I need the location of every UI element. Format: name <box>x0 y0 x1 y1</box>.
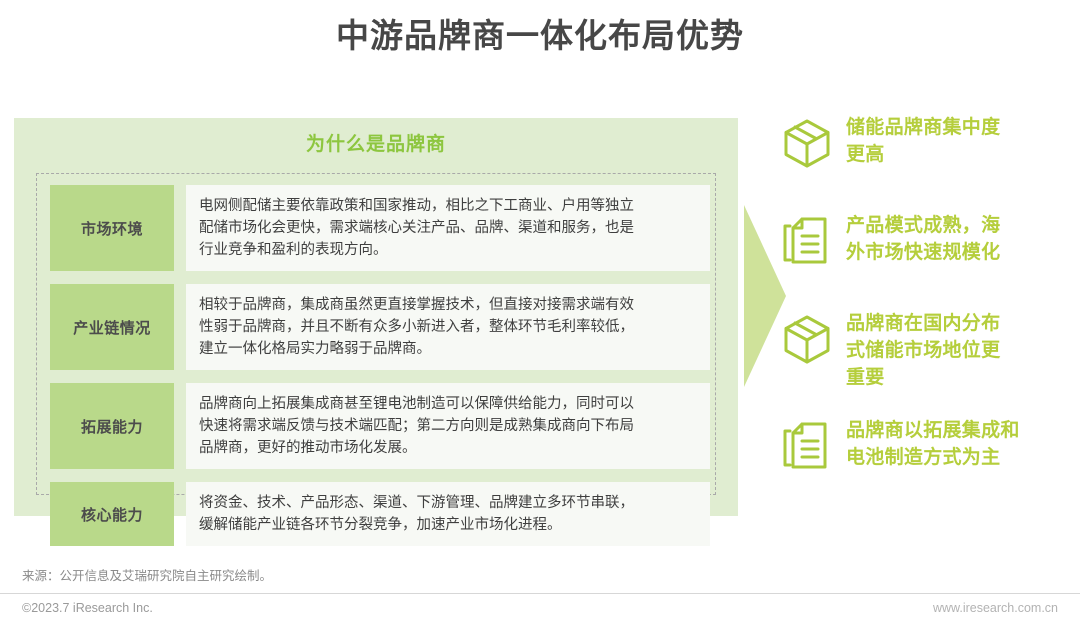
item-text-line: 品牌商以拓展集成和 <box>846 417 1068 444</box>
table-row: 核心能力 将资金、技术、产品形态、渠道、下游管理、品牌建立多环节串联， 缓解储能… <box>50 482 710 546</box>
row-text-line: 电网侧配储主要依靠政策和国家推动，相比之下工商业、户用等独立 <box>199 195 634 217</box>
why-brand-panel: 为什么是品牌商 市场环境 电网侧配储主要依靠政策和国家推动，相比之下工商业、户用… <box>14 118 738 516</box>
list-item: 储能品牌商集中度 更高 <box>778 112 1068 186</box>
list-item: 品牌商在国内分布 式储能市场地位更 重要 <box>778 308 1068 391</box>
reason-rows: 市场环境 电网侧配储主要依靠政策和国家推动，相比之下工商业、户用等独立 配储市场… <box>50 185 710 546</box>
table-row: 市场环境 电网侧配储主要依靠政策和国家推动，相比之下工商业、户用等独立 配储市场… <box>50 185 710 271</box>
row-body: 将资金、技术、产品形态、渠道、下游管理、品牌建立多环节串联， 缓解储能产业链各环… <box>186 482 710 546</box>
list-item-label: 品牌商在国内分布 式储能市场地位更 重要 <box>846 308 1068 391</box>
row-label-chip: 产业链情况 <box>50 284 174 370</box>
row-text-line: 品牌商向上拓展集成商甚至锂电池制造可以保障供给能力，同时可以 <box>199 393 634 415</box>
item-text-line: 外市场快速规模化 <box>846 239 1068 266</box>
item-text-line: 储能品牌商集中度 <box>846 114 1068 141</box>
copyright-text: ©2023.7 iResearch Inc. <box>22 601 153 615</box>
row-body: 相较于品牌商，集成商虽然更直接掌握技术，但直接对接需求端有效 性弱于品牌商，并且… <box>186 284 710 370</box>
row-text-line: 品牌商，更好的推动市场化发展。 <box>199 437 634 459</box>
row-body: 品牌商向上拓展集成商甚至锂电池制造可以保障供给能力，同时可以 快速将需求端反馈与… <box>186 383 710 469</box>
source-note: 来源：公开信息及艾瑞研究院自主研究绘制。 <box>22 565 272 584</box>
document-icon <box>778 417 836 475</box>
list-item-label: 产品模式成熟，海 外市场快速规模化 <box>846 210 1068 266</box>
row-text-line: 配储市场化会更快，需求端核心关注产品、品牌、渠道和服务，也是 <box>199 217 634 239</box>
footer-divider <box>0 593 1080 594</box>
item-text-line: 产品模式成熟，海 <box>846 212 1068 239</box>
row-label-chip: 核心能力 <box>50 482 174 546</box>
list-item-label: 品牌商以拓展集成和 电池制造方式为主 <box>846 415 1068 471</box>
box-icon <box>778 114 836 172</box>
list-item-label: 储能品牌商集中度 更高 <box>846 112 1068 168</box>
item-text-line: 重要 <box>846 364 1068 391</box>
row-text-line: 快速将需求端反馈与技术端匹配；第二方向则是成熟集成商向下布局 <box>199 415 634 437</box>
advantages-list: 储能品牌商集中度 更高 产品模式成熟，海 外市场快速规模化 <box>778 112 1068 489</box>
row-text-line: 建立一体化格局实力略弱于品牌商。 <box>199 338 634 360</box>
item-text-line: 电池制造方式为主 <box>846 444 1068 471</box>
table-row: 拓展能力 品牌商向上拓展集成商甚至锂电池制造可以保障供给能力，同时可以 快速将需… <box>50 383 710 469</box>
table-row: 产业链情况 相较于品牌商，集成商虽然更直接掌握技术，但直接对接需求端有效 性弱于… <box>50 284 710 370</box>
page-title: 中游品牌商一体化布局优势 <box>0 14 1080 58</box>
row-text-line: 行业竞争和盈利的表现方向。 <box>199 239 634 261</box>
item-text-line: 更高 <box>846 141 1068 168</box>
row-label-chip: 拓展能力 <box>50 383 174 469</box>
row-text-line: 相较于品牌商，集成商虽然更直接掌握技术，但直接对接需求端有效 <box>199 294 634 316</box>
list-item: 产品模式成熟，海 外市场快速规模化 <box>778 210 1068 284</box>
row-text-line: 缓解储能产业链各环节分裂竞争，加速产业市场化进程。 <box>199 514 634 536</box>
list-item: 品牌商以拓展集成和 电池制造方式为主 <box>778 415 1068 489</box>
box-icon <box>778 310 836 368</box>
row-text-line: 将资金、技术、产品形态、渠道、下游管理、品牌建立多环节串联， <box>199 492 634 514</box>
item-text-line: 品牌商在国内分布 <box>846 310 1068 337</box>
document-icon <box>778 212 836 270</box>
website-url: www.iresearch.com.cn <box>933 601 1058 615</box>
row-text-line: 性弱于品牌商，并且不断有众多小新进入者，整体环节毛利率较低， <box>199 316 634 338</box>
panel-header: 为什么是品牌商 <box>14 129 738 156</box>
row-body: 电网侧配储主要依靠政策和国家推动，相比之下工商业、户用等独立 配储市场化会更快，… <box>186 185 710 271</box>
row-label-chip: 市场环境 <box>50 185 174 271</box>
item-text-line: 式储能市场地位更 <box>846 337 1068 364</box>
